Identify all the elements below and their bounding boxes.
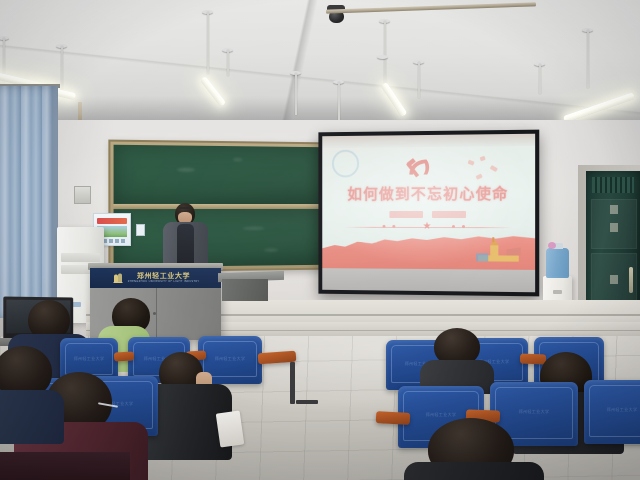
seat-arm-desk[interactable] [520, 354, 546, 365]
seat-label: 郑州轻工业大学 [74, 356, 105, 362]
blackboard-lower-panel [114, 209, 325, 267]
blackboard-upper-panel [114, 145, 325, 204]
window-curtain[interactable] [0, 86, 58, 318]
side-table-equipment [222, 279, 268, 301]
podium-institution-name: 郑州轻工业大学 [137, 273, 190, 280]
light-rod [295, 73, 297, 115]
light-rod [338, 82, 340, 120]
light-canopy [377, 55, 388, 59]
audience-body [0, 452, 130, 480]
light-rod [539, 64, 541, 94]
university-logo-icon [112, 272, 124, 284]
lecture-hall-photo: 如何做到不忘初心使命 ★ [0, 0, 640, 480]
handout-papers[interactable] [216, 410, 244, 447]
projected-slide: 如何做到不忘初心使命 ★ [322, 134, 535, 293]
light-switch[interactable] [136, 224, 145, 236]
audience-body [0, 390, 64, 444]
seat-arm-desk[interactable] [114, 351, 134, 361]
seat-leg [296, 400, 318, 404]
seat-label: 郑州轻工业大学 [426, 412, 457, 418]
podium-institution-name-en: ZHENGZHOU UNIVERSITY OF LIGHT INDUSTRY [128, 281, 199, 284]
light-rod [418, 62, 420, 98]
decorative-flower [548, 242, 556, 249]
light-rod [61, 46, 63, 92]
light-rod [587, 30, 589, 88]
seat-label: 郑州轻工业大学 [607, 407, 638, 413]
water-bottle [546, 248, 569, 278]
seat-label: 郑州轻工业大学 [215, 356, 246, 362]
projection-screen: 如何做到不忘初心使命 ★ [318, 130, 539, 297]
door-handle[interactable] [629, 267, 633, 293]
blackboard [108, 140, 328, 273]
seat-label: 郑州轻工业大学 [519, 409, 550, 415]
wall-junction-box [74, 186, 91, 204]
auditorium-seat[interactable]: 郑州轻工业大学 [584, 380, 640, 444]
light-rod [207, 12, 209, 74]
audience-body [404, 462, 544, 480]
presenter-glasses [179, 207, 191, 209]
podium-institution-banner: 郑州轻工业大学 ZHENGZHOU UNIVERSITY OF LIGHT IN… [90, 268, 221, 288]
seat-arm-desk[interactable] [376, 411, 411, 425]
light-rod [227, 50, 229, 76]
seat-leg [290, 362, 295, 404]
